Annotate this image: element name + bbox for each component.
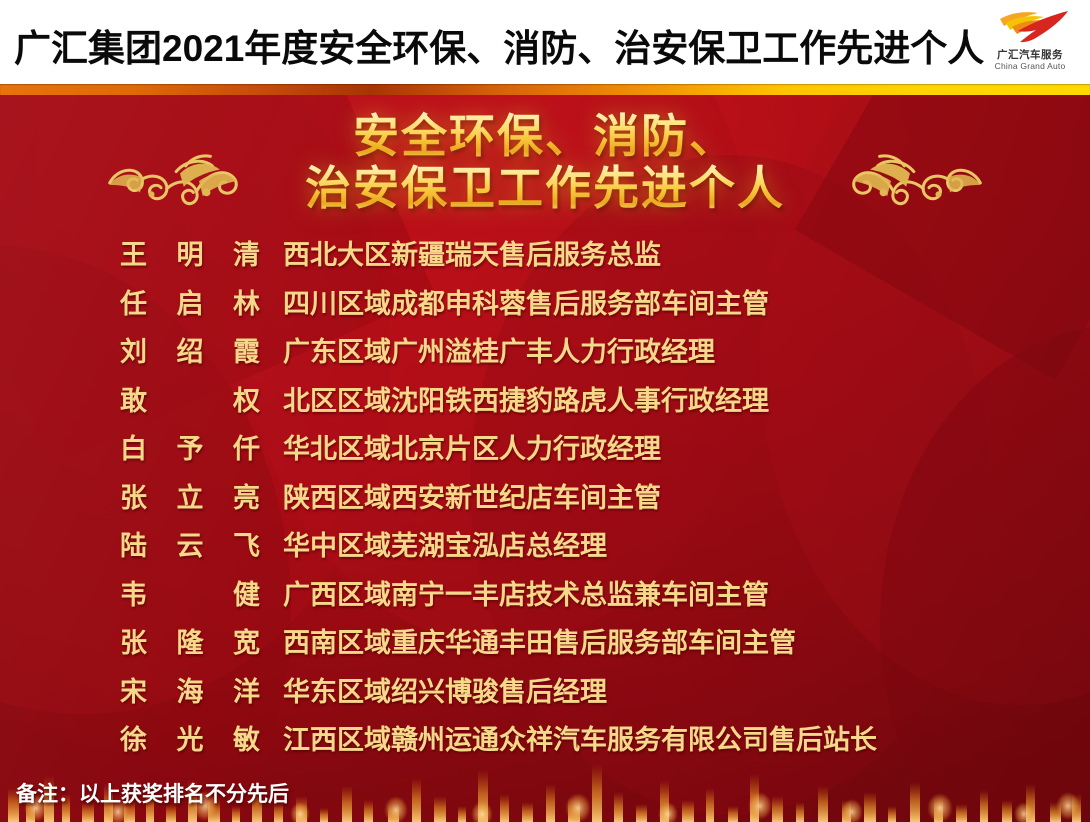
awardee-position: 江西区域赣州运通众祥汽车服务有限公司售后站长 (283, 718, 877, 757)
awardee-position: 华中区域芜湖宝泓店总经理 (283, 524, 607, 563)
list-item: 宋海洋 华东区域绍兴博骏售后经理 (0, 670, 1090, 719)
logo-chinese-name: 广汇汽车服务 (984, 47, 1076, 62)
footer-note: 备注：以上获奖排名不分先后 (16, 778, 289, 808)
awardee-position: 广西区域南宁一丰店技术总监兼车间主管 (283, 573, 769, 612)
list-item: 张隆宽 西南区域重庆华通丰田售后服务部车间主管 (0, 621, 1090, 670)
brand-logo: 广汇汽车服务 China Grand Auto (984, 4, 1076, 78)
list-item: 徐光敏 江西区域赣州运通众祥汽车服务有限公司售后站长 (0, 718, 1090, 767)
awardee-name: 任启林 (120, 282, 260, 321)
awardee-name: 王明清 (120, 233, 260, 272)
logo-english-name: China Grand Auto (984, 61, 1076, 71)
awardee-position: 华北区域北京片区人力行政经理 (283, 427, 661, 466)
poster-title: 安全环保、消防、 治安保卫工作先进个人 (0, 111, 1090, 214)
list-item: 王明清 西北大区新疆瑞天售后服务总监 (0, 233, 1090, 282)
list-item: 敢权 北区区域沈阳铁西捷豹路虎人事行政经理 (0, 379, 1090, 428)
awardee-name: 张隆宽 (120, 621, 260, 660)
awardee-name: 宋海洋 (120, 670, 260, 709)
awardee-position: 华东区域绍兴博骏售后经理 (283, 670, 607, 709)
list-item: 任启林 四川区域成都申科蓉售后服务部车间主管 (0, 282, 1090, 331)
list-item: 韦健 广西区域南宁一丰店技术总监兼车间主管 (0, 573, 1090, 622)
awardee-position: 陕西区域西安新世纪店车间主管 (283, 476, 661, 515)
list-item: 白予仟 华北区域北京片区人力行政经理 (0, 427, 1090, 476)
awardee-name: 敢权 (120, 379, 260, 418)
page-header: 广汇集团2021年度安全环保、消防、治安保卫工作先进个人 广汇汽车服务 Chin… (0, 0, 1090, 84)
list-item: 刘绍霞 广东区域广州溢桂广丰人力行政经理 (0, 330, 1090, 379)
awardee-name: 陆云飞 (120, 524, 260, 563)
poster-title-line-1: 安全环保、消防、 (0, 111, 1090, 163)
awardee-name: 刘绍霞 (120, 330, 260, 369)
awardee-position: 西南区域重庆华通丰田售后服务部车间主管 (283, 621, 796, 660)
guanghui-swoosh-logo-icon (992, 6, 1072, 46)
awardee-name: 白予仟 (120, 427, 260, 466)
poster-title-line-2: 治安保卫工作先进个人 (0, 163, 1090, 215)
awardee-name: 张立亮 (120, 476, 260, 515)
awardee-position: 广东区域广州溢桂广丰人力行政经理 (283, 330, 715, 369)
awardee-list: 王明清 西北大区新疆瑞天售后服务总监 任启林 四川区域成都申科蓉售后服务部车间主… (0, 233, 1090, 767)
list-item: 陆云飞 华中区域芜湖宝泓店总经理 (0, 524, 1090, 573)
gold-divider (0, 84, 1090, 95)
awardee-position: 北区区域沈阳铁西捷豹路虎人事行政经理 (283, 379, 769, 418)
awardee-position: 西北大区新疆瑞天售后服务总监 (283, 233, 661, 272)
awardee-position: 四川区域成都申科蓉售后服务部车间主管 (283, 282, 769, 321)
awardee-name: 韦健 (120, 573, 260, 612)
list-item: 张立亮 陕西区域西安新世纪店车间主管 (0, 476, 1090, 525)
poster-stage: 安全环保、消防、 治安保卫工作先进个人 王明清 西北大区新疆瑞天售后服务总监 任… (0, 95, 1090, 822)
awardee-name: 徐光敏 (120, 718, 260, 757)
page-title: 广汇集团2021年度安全环保、消防、治安保卫工作先进个人 (14, 18, 984, 72)
